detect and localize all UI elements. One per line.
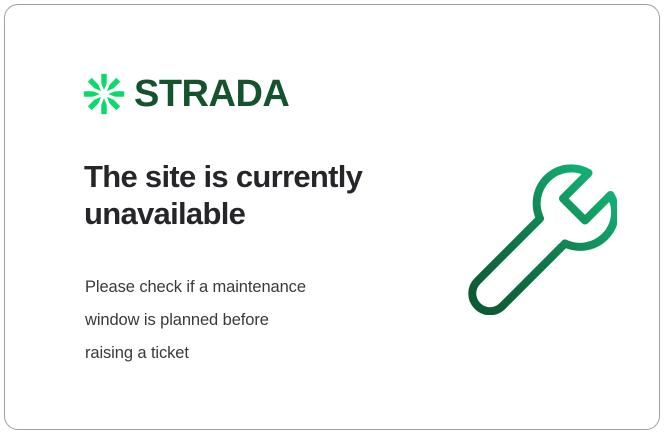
asterisk-star-icon: [83, 73, 125, 115]
page-title: The site is currently unavailable: [84, 159, 424, 232]
wrench-icon: [457, 155, 617, 315]
description-line: Please check if a maintenance: [85, 271, 395, 304]
description-line: window is planned before: [85, 304, 395, 337]
brand-wordmark: STRADA: [134, 75, 289, 113]
brand-logo: STRADA: [83, 73, 289, 115]
status-card: STRADA The site is currently unavailable…: [4, 4, 660, 430]
description-line: raising a ticket: [85, 337, 395, 370]
page-description: Please check if a maintenance window is …: [85, 271, 395, 370]
